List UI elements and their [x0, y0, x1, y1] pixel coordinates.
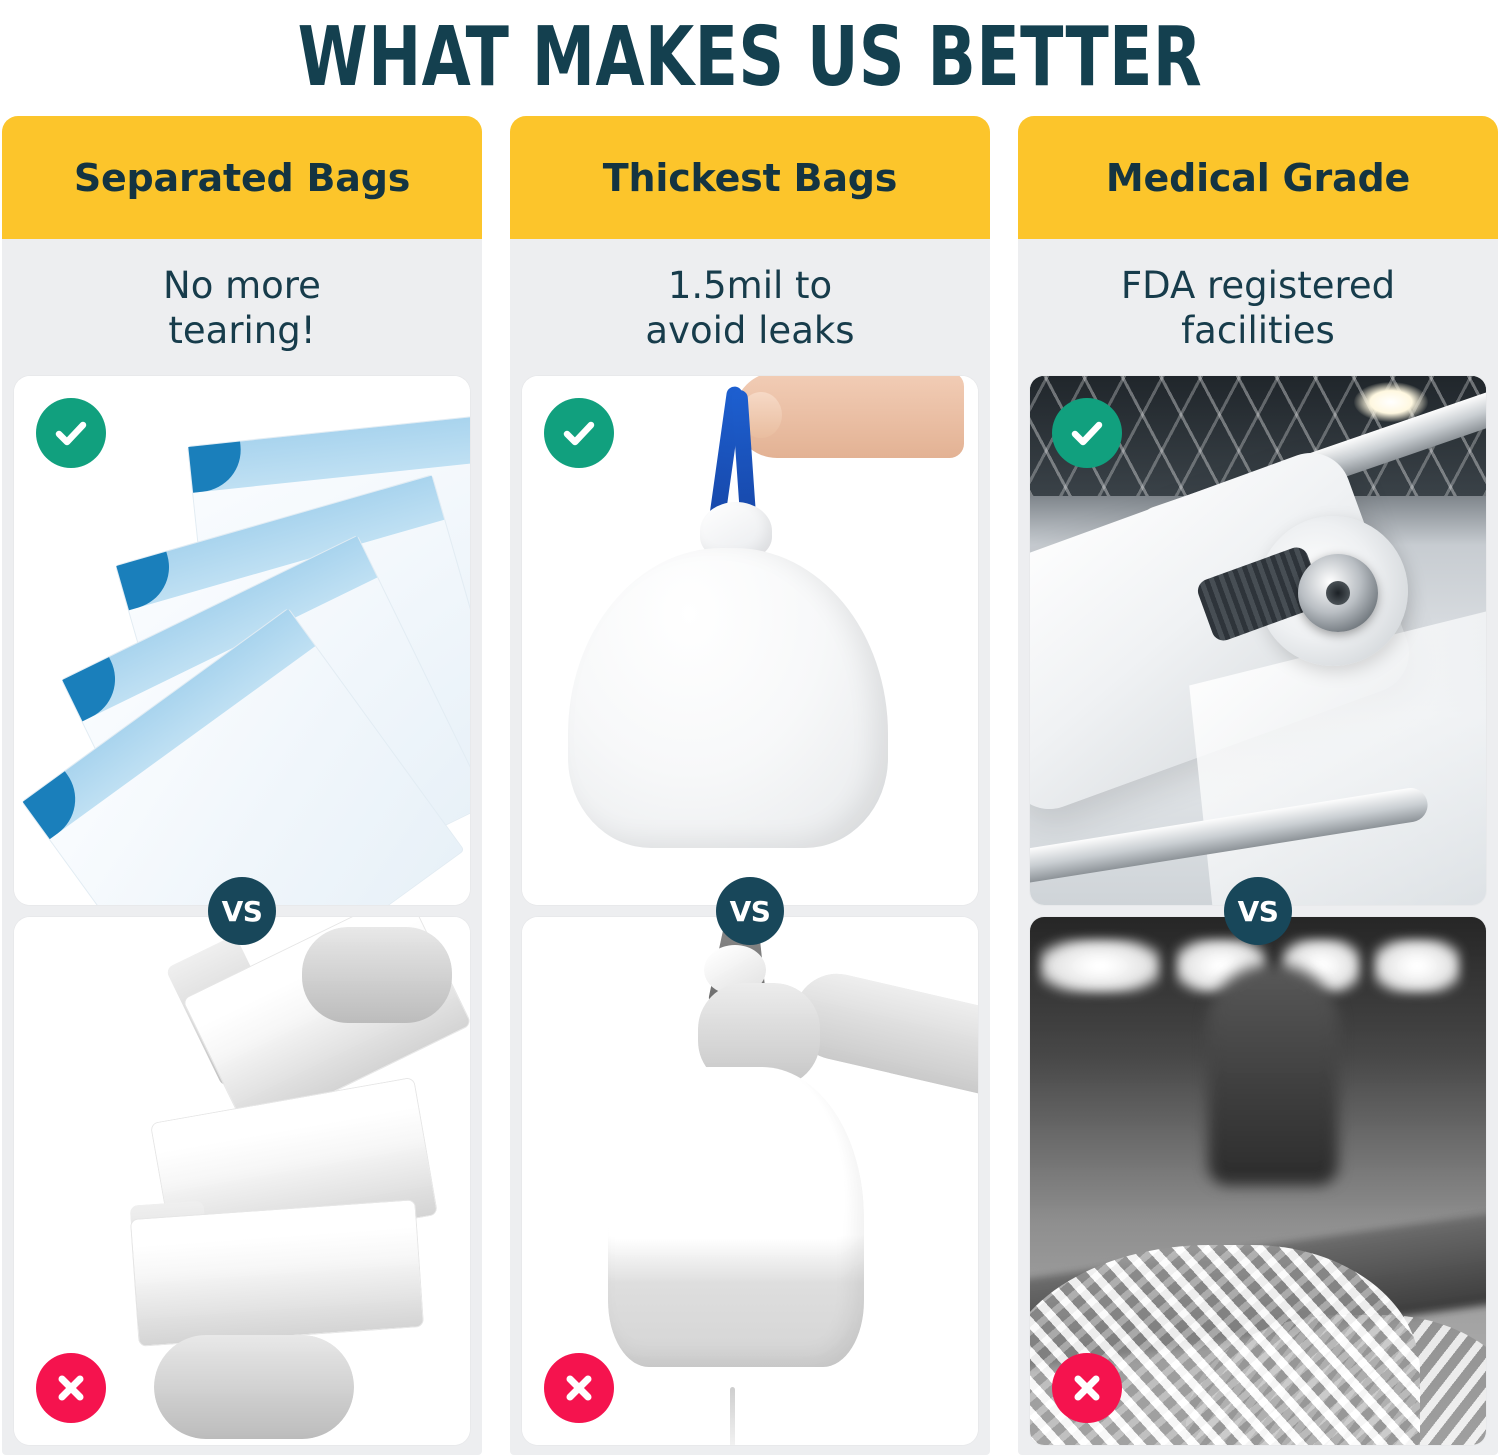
column-subtitle: No more tearing!: [2, 239, 482, 376]
page-header: WHAT MAKES US BETTER: [0, 0, 1500, 116]
bag-body: [608, 1067, 864, 1367]
column-header-band: Thickest Bags: [510, 116, 990, 239]
hand: [734, 376, 964, 458]
comparison-column-thickest-bags: Thickest Bags 1.5mil to avoid leaks: [510, 116, 990, 1455]
roll-hub: [1298, 554, 1378, 632]
column-subtitle: FDA registered facilities: [1018, 239, 1498, 376]
window-light: [1040, 939, 1160, 993]
good-example-card: [1030, 376, 1486, 905]
column-header-label: Separated Bags: [74, 156, 410, 200]
cross-icon: [544, 1353, 614, 1423]
column-panes: [1018, 376, 1498, 1455]
good-example-card: [522, 376, 978, 905]
cross-icon: [36, 1353, 106, 1423]
check-icon: [36, 398, 106, 468]
column-header-band: Separated Bags: [2, 116, 482, 239]
column-subtitle-text: 1.5mil to avoid leaks: [645, 263, 854, 353]
comparison-columns: Separated Bags No more tearing!: [0, 116, 1500, 1455]
column-panes: [510, 376, 990, 1455]
bad-example-card: [14, 917, 470, 1446]
column-header-band: Medical Grade: [1018, 116, 1498, 239]
leak-drip: [730, 1387, 735, 1445]
bad-example-card: [522, 917, 978, 1446]
bag-on-roll: [130, 1199, 424, 1347]
worker-silhouette: [1208, 965, 1338, 1185]
window-light: [1374, 939, 1460, 993]
bag-body: [568, 548, 888, 848]
column-subtitle-text: FDA registered facilities: [1121, 263, 1395, 353]
check-icon: [1052, 398, 1122, 468]
comparison-column-separated-bags: Separated Bags No more tearing!: [2, 116, 482, 1455]
page-title: WHAT MAKES US BETTER: [298, 15, 1203, 101]
bad-example-card: [1030, 917, 1486, 1446]
good-example-card: [14, 376, 470, 905]
hand: [154, 1335, 354, 1439]
column-header-label: Medical Grade: [1106, 156, 1410, 200]
column-header-label: Thickest Bags: [603, 156, 897, 200]
column-subtitle-text: No more tearing!: [163, 263, 321, 353]
comparison-column-medical-grade: Medical Grade FDA registered facilities: [1018, 116, 1498, 1455]
cross-icon: [1052, 1353, 1122, 1423]
column-subtitle: 1.5mil to avoid leaks: [510, 239, 990, 376]
column-panes: [2, 376, 482, 1455]
hand: [302, 927, 452, 1023]
check-icon: [544, 398, 614, 468]
